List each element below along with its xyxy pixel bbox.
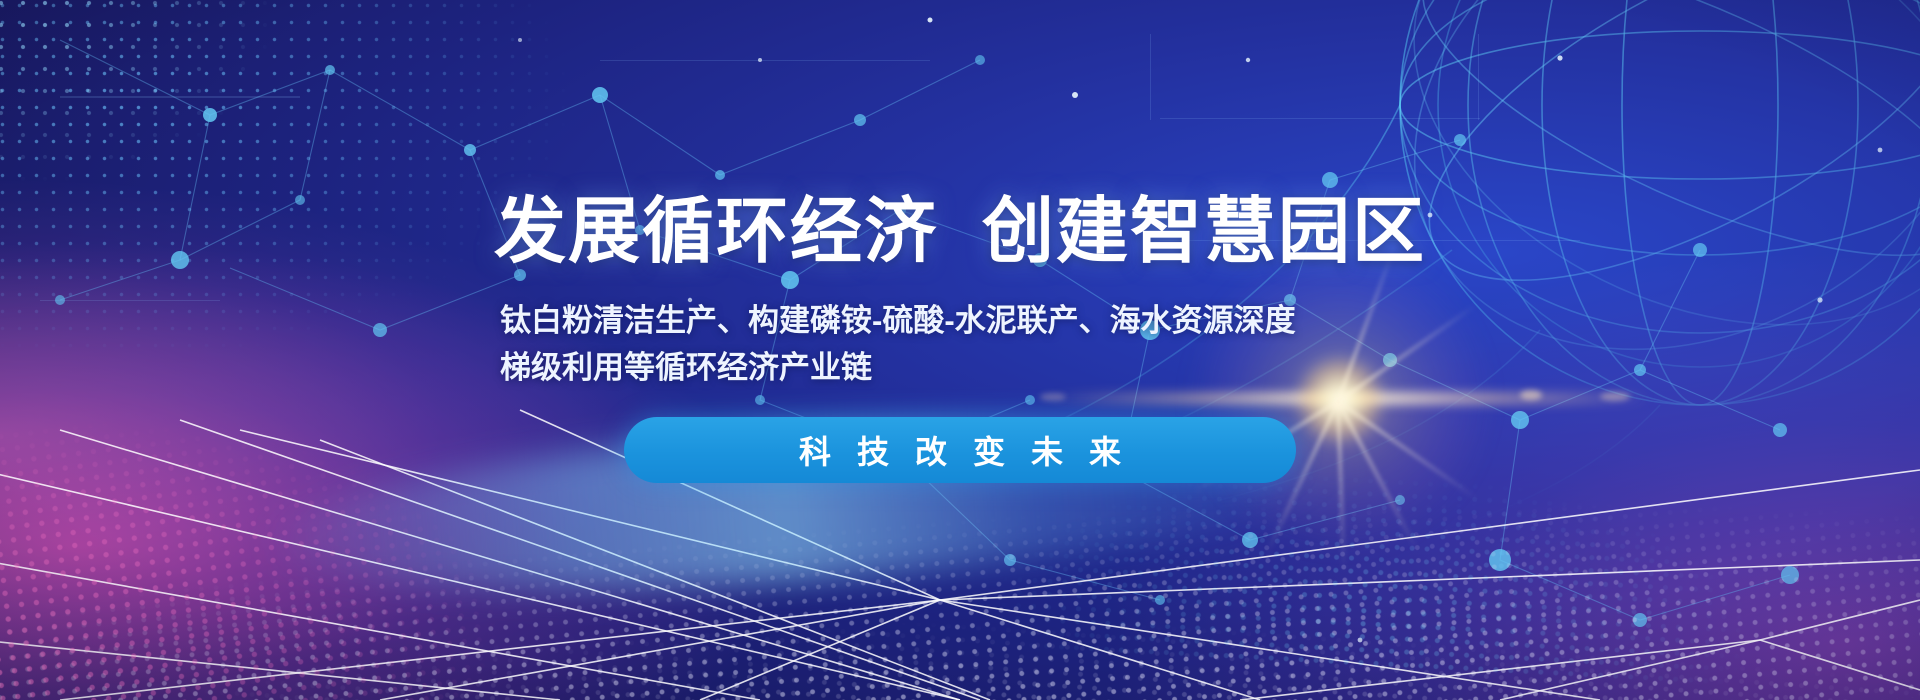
background-vignette: [0, 0, 1920, 700]
banner-stage: 发展循环经济 创建智慧园区 钛白粉清洁生产、构建磷铵-硫酸-水泥联产、海水资源深…: [0, 0, 1920, 700]
